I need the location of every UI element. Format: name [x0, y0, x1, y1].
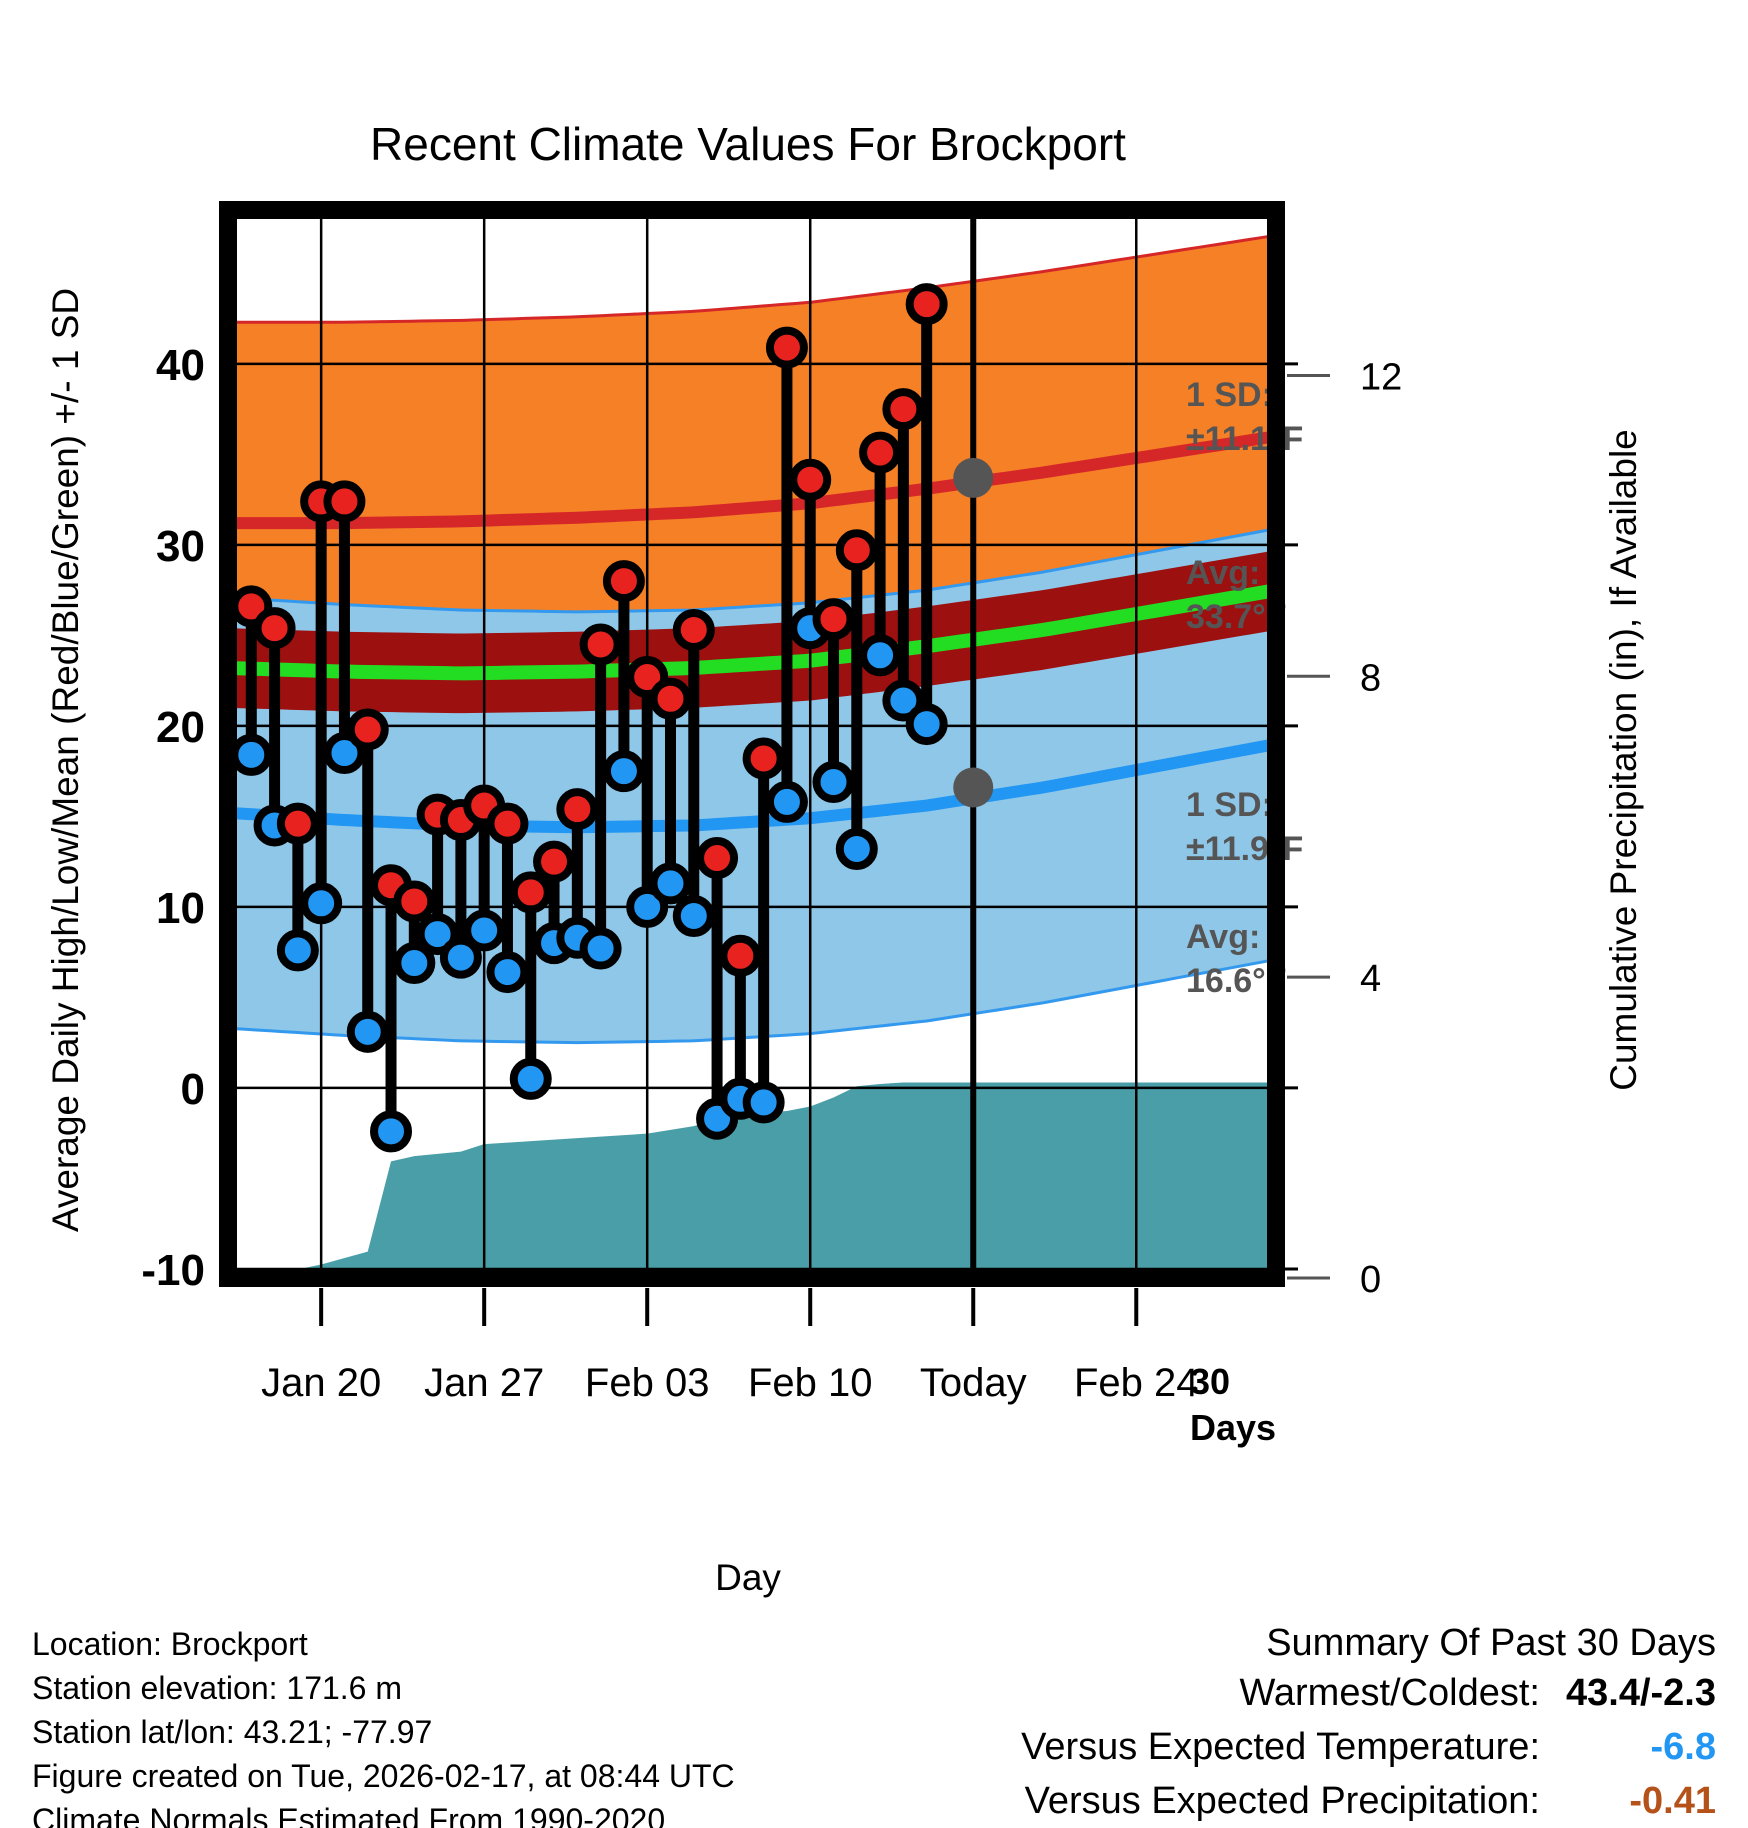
y-tick-label-right: 0 — [1360, 1259, 1381, 1301]
daily-high-marker — [817, 602, 851, 636]
summary-row-value: -6.8 — [1651, 1726, 1716, 1768]
daily-low-marker — [281, 933, 315, 967]
y-tick-label-right: 12 — [1360, 356, 1402, 398]
y-axis-label-left: Average Daily High/Low/Mean (Red/Blue/Gr… — [45, 288, 86, 1232]
y-tick-label-right: 8 — [1360, 657, 1381, 699]
daily-high-marker — [584, 627, 618, 661]
y-tick-label-left: 20 — [156, 703, 205, 752]
y-tick-label-left: 10 — [156, 884, 205, 933]
daily-low-marker — [584, 932, 618, 966]
high-sd-value: ±11.1°F — [1186, 420, 1303, 458]
daily-high-marker — [840, 533, 874, 567]
daily-high-marker — [490, 807, 524, 841]
daily-high-marker — [327, 484, 361, 518]
summary-row-label: Versus Expected Precipitation: — [1025, 1780, 1540, 1822]
low-sd-value: ±11.9°F — [1186, 830, 1303, 868]
footer-line: Station lat/lon: 43.21; -77.97 — [32, 1714, 432, 1750]
daily-low-marker — [817, 765, 851, 799]
daily-low-marker — [351, 1015, 385, 1049]
y-tick-label-left: 0 — [181, 1065, 205, 1114]
daily-low-marker — [770, 785, 804, 819]
x-tick-label: Feb 24 — [1074, 1361, 1199, 1405]
today-high-average-marker — [953, 458, 993, 498]
daily-high-marker — [700, 841, 734, 875]
daily-high-marker — [723, 939, 757, 973]
x-tick-label: Jan 20 — [261, 1361, 381, 1405]
x-tick-label: Feb 03 — [585, 1361, 710, 1405]
daily-high-marker — [560, 792, 594, 826]
daily-high-marker — [607, 564, 641, 598]
daily-low-marker — [304, 886, 338, 920]
chart-title: Recent Climate Values For Brockport — [370, 118, 1126, 170]
x-tick-label: Today — [920, 1361, 1027, 1405]
daily-high-marker — [514, 875, 548, 909]
y-tick-label-left: 40 — [156, 341, 205, 390]
normal-bands — [228, 235, 1276, 1042]
daily-low-marker — [840, 832, 874, 866]
daily-low-marker — [863, 638, 897, 672]
summary-row-label: Warmest/Coldest: — [1239, 1672, 1540, 1714]
footer-line: Figure created on Tue, 2026-02-17, at 08… — [32, 1758, 735, 1794]
daily-high-marker — [863, 436, 897, 470]
daily-low-marker — [747, 1085, 781, 1119]
summary-heading: Summary Of Past 30 Days — [1266, 1622, 1716, 1664]
precip-days-line2: Days — [1190, 1407, 1276, 1448]
daily-high-marker — [281, 807, 315, 841]
footer-line: Climate Normals Estimated From 1990-2020 — [32, 1802, 665, 1828]
footer-line: Location: Brockport — [32, 1626, 308, 1662]
climate-figure: Recent Climate Values For Brockport Aver… — [0, 0, 1748, 1828]
y-tick-label-left: -10 — [141, 1246, 205, 1295]
summary-row-value: -0.41 — [1629, 1780, 1716, 1822]
daily-low-marker — [607, 754, 641, 788]
y-axis-label-right: Cumulative Precipitation (in), If Availa… — [1603, 429, 1644, 1091]
low-avg-label: Avg: — [1186, 918, 1260, 956]
y-tick-label-left: 30 — [156, 522, 205, 571]
daily-high-marker — [537, 845, 571, 879]
daily-high-marker — [258, 611, 292, 645]
x-tick-label: Jan 27 — [424, 1361, 544, 1405]
daily-high-marker — [351, 713, 385, 747]
footer-line: Station elevation: 171.6 m — [32, 1670, 402, 1706]
today-low-average-marker — [953, 767, 993, 807]
daily-low-marker — [234, 738, 268, 772]
daily-low-marker — [514, 1062, 548, 1096]
daily-high-marker — [886, 392, 920, 426]
y-tick-label-right: 4 — [1360, 958, 1381, 1000]
summary-row-label: Versus Expected Temperature: — [1021, 1726, 1540, 1768]
daily-low-marker — [467, 913, 501, 947]
high-sd-label: 1 SD: — [1186, 376, 1273, 414]
daily-high-marker — [653, 682, 687, 716]
daily-high-marker — [770, 331, 804, 365]
daily-low-marker — [653, 866, 687, 900]
daily-low-marker — [677, 899, 711, 933]
daily-high-marker — [677, 613, 711, 647]
daily-high-marker — [397, 884, 431, 918]
daily-low-marker — [490, 955, 524, 989]
plot-area — [228, 210, 1276, 1278]
daily-low-marker — [910, 707, 944, 741]
daily-high-marker — [793, 463, 827, 497]
summary-row-value: 43.4/-2.3 — [1566, 1672, 1716, 1714]
high-avg-label: Avg: — [1186, 554, 1260, 592]
daily-low-marker — [374, 1114, 408, 1148]
daily-high-marker — [910, 287, 944, 321]
low-sd-label: 1 SD: — [1186, 786, 1273, 824]
daily-high-marker — [747, 741, 781, 775]
climate-chart-svg: Recent Climate Values For Brockport Aver… — [0, 0, 1748, 1828]
x-axis-label: Day — [715, 1557, 781, 1598]
x-tick-label: Feb 10 — [748, 1361, 873, 1405]
